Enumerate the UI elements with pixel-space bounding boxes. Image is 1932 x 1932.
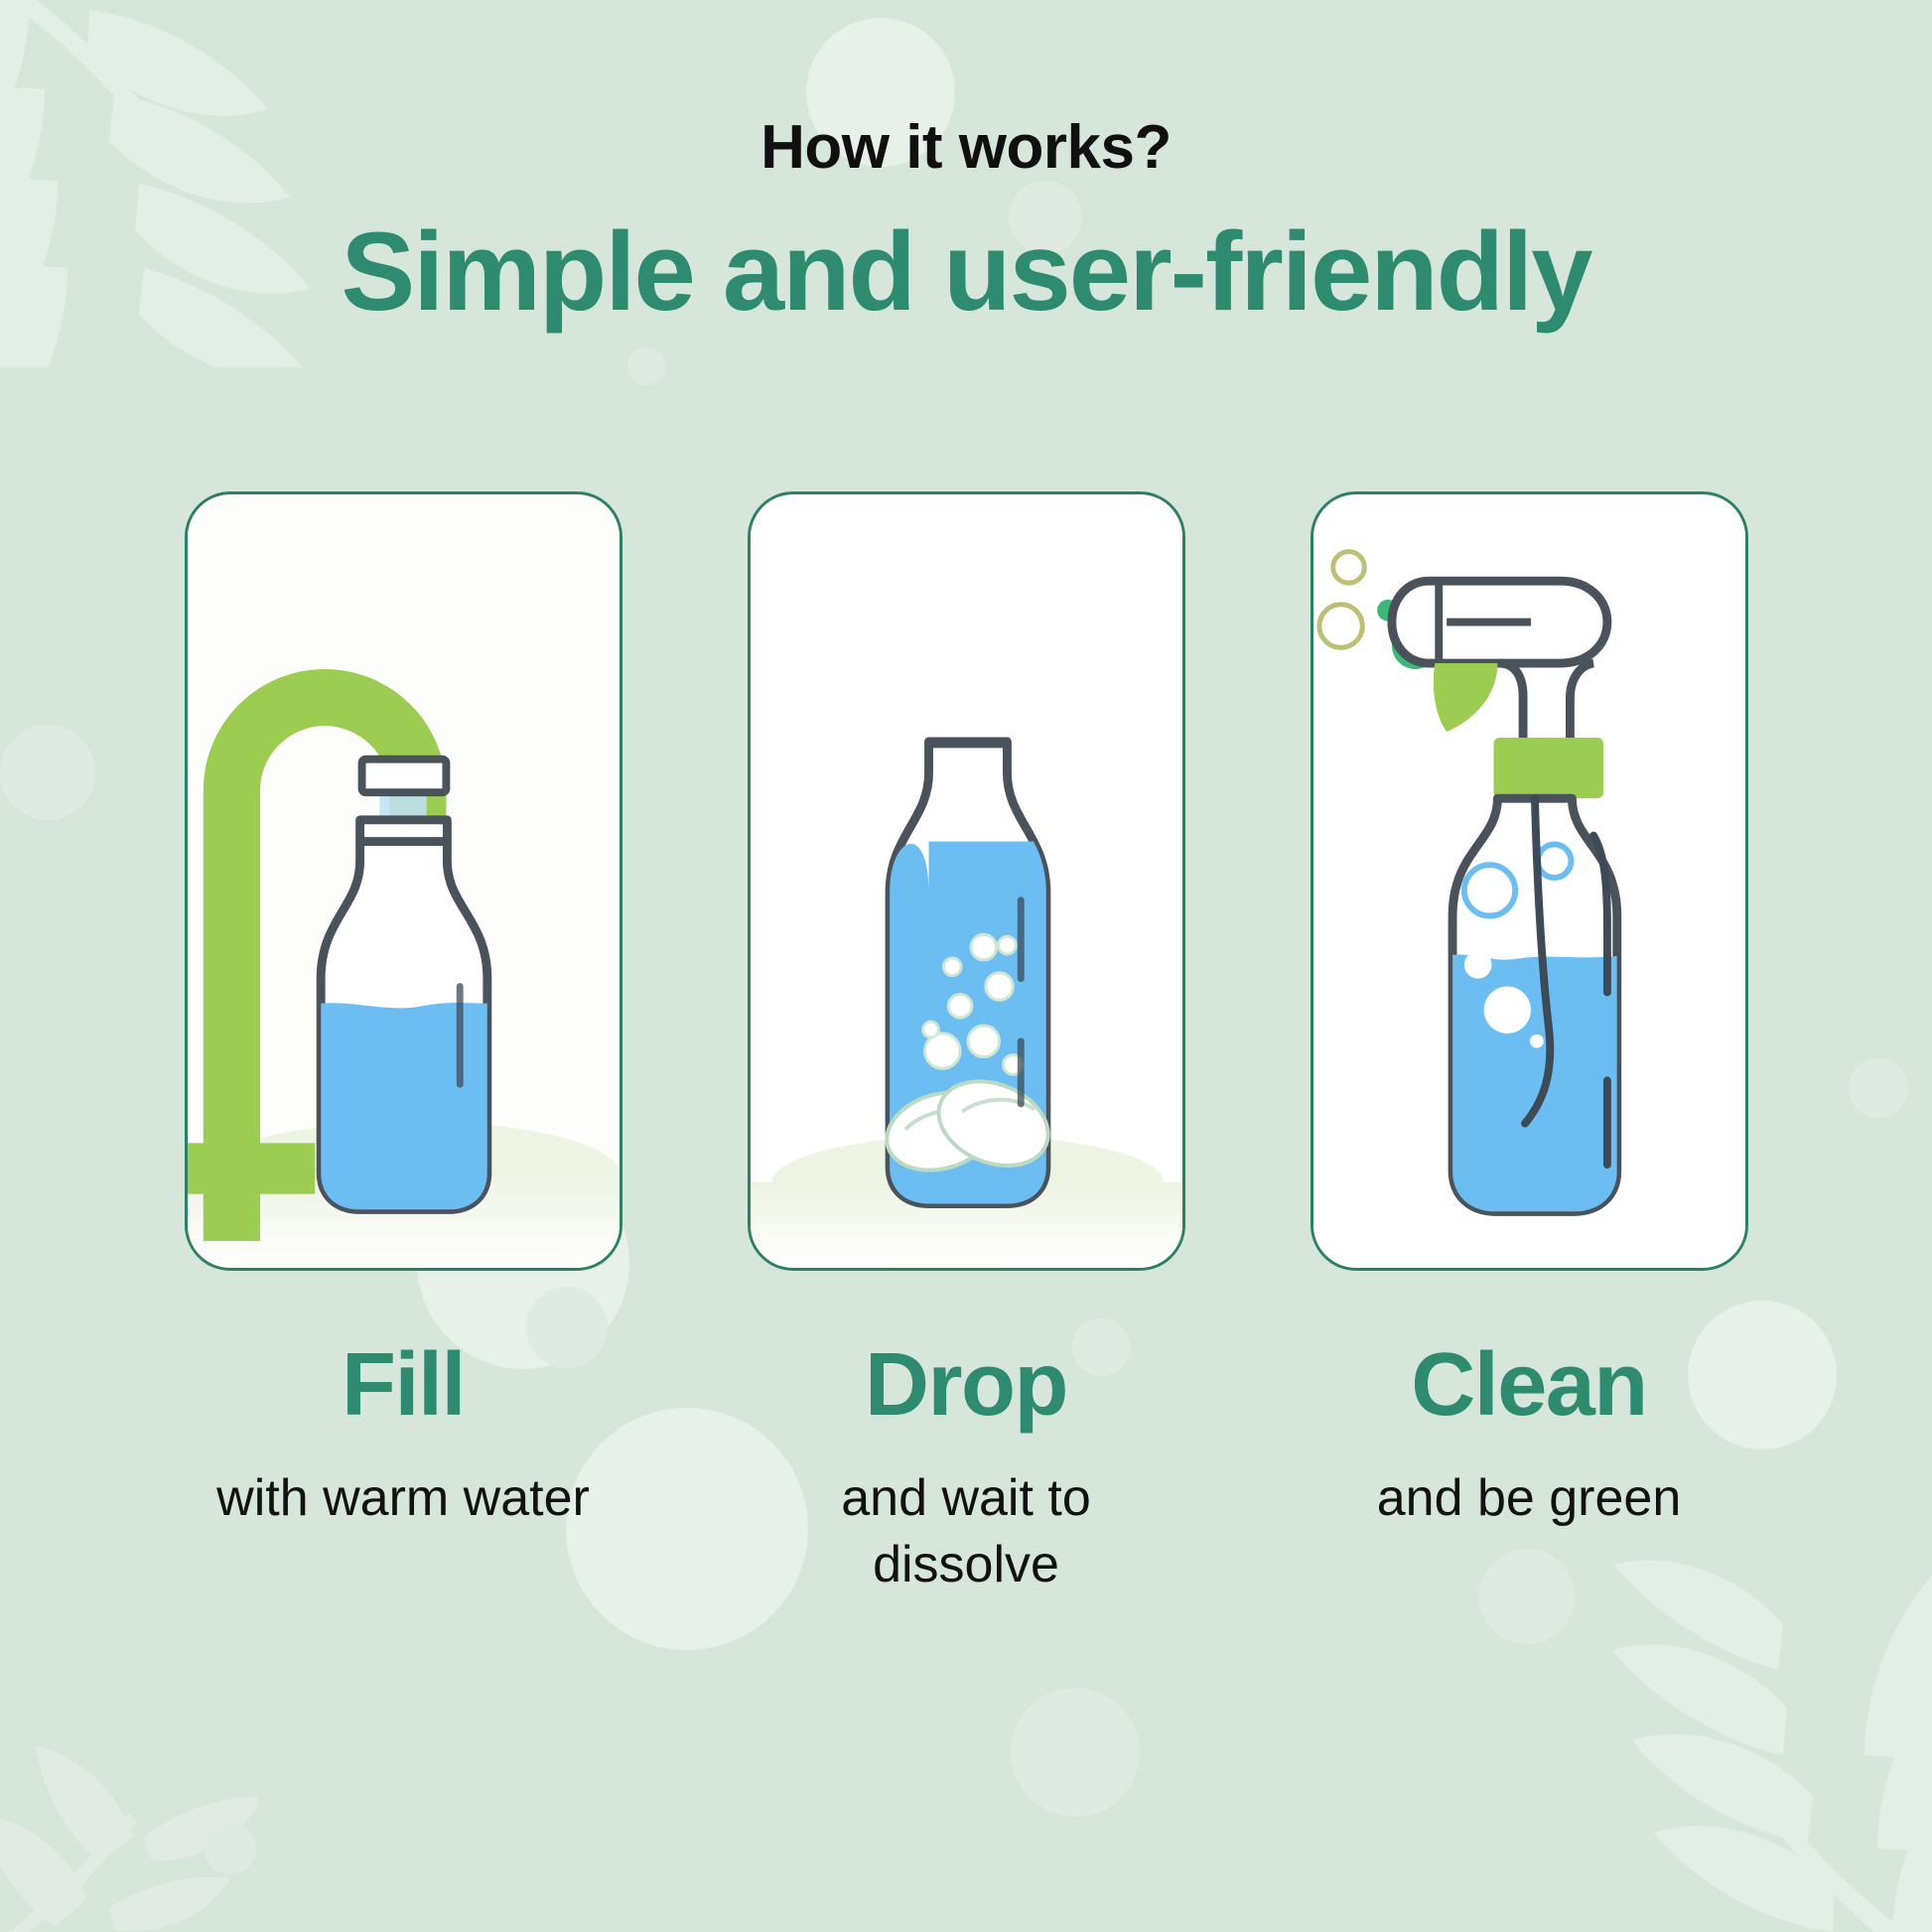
caption-clean: Clean and be green [1311,1340,1748,1597]
step-title-drop: Drop [748,1340,1185,1430]
step-card-clean [1311,491,1748,1271]
caption-drop: Drop and wait to dissolve [748,1340,1185,1597]
header-block: How it works? Simple and user-friendly [0,117,1932,328]
caption-fill: Fill with warm water [185,1340,622,1597]
faucet-filling-bottle-icon [188,494,620,1268]
decor-bubble [627,347,665,385]
page-title: Simple and user-friendly [0,216,1932,328]
step-card-drop [748,491,1185,1271]
bottle-with-dissolving-tablets-icon [751,494,1182,1268]
step-title-clean: Clean [1311,1340,1748,1430]
step-description-clean: and be green [1311,1465,1748,1532]
steps-caption-row: Fill with warm water Drop and wait to di… [0,1340,1932,1597]
decor-bubble [205,1823,256,1874]
decor-bubble [1011,1688,1140,1817]
step-title-fill: Fill [185,1340,622,1430]
step-description-fill: with warm water [185,1465,622,1532]
spray-bottle-icon [1313,494,1745,1268]
leaf-branch-bottom-left-icon [0,1714,258,1932]
step-card-fill [185,491,622,1271]
steps-card-row [0,491,1932,1271]
step-description-drop: and wait to dissolve [748,1465,1185,1597]
eyebrow-heading: How it works? [0,117,1932,179]
leaf-branch-bottom-right-icon [1555,1545,1932,1932]
infographic-page: How it works? Simple and user-friendly [0,0,1932,1932]
